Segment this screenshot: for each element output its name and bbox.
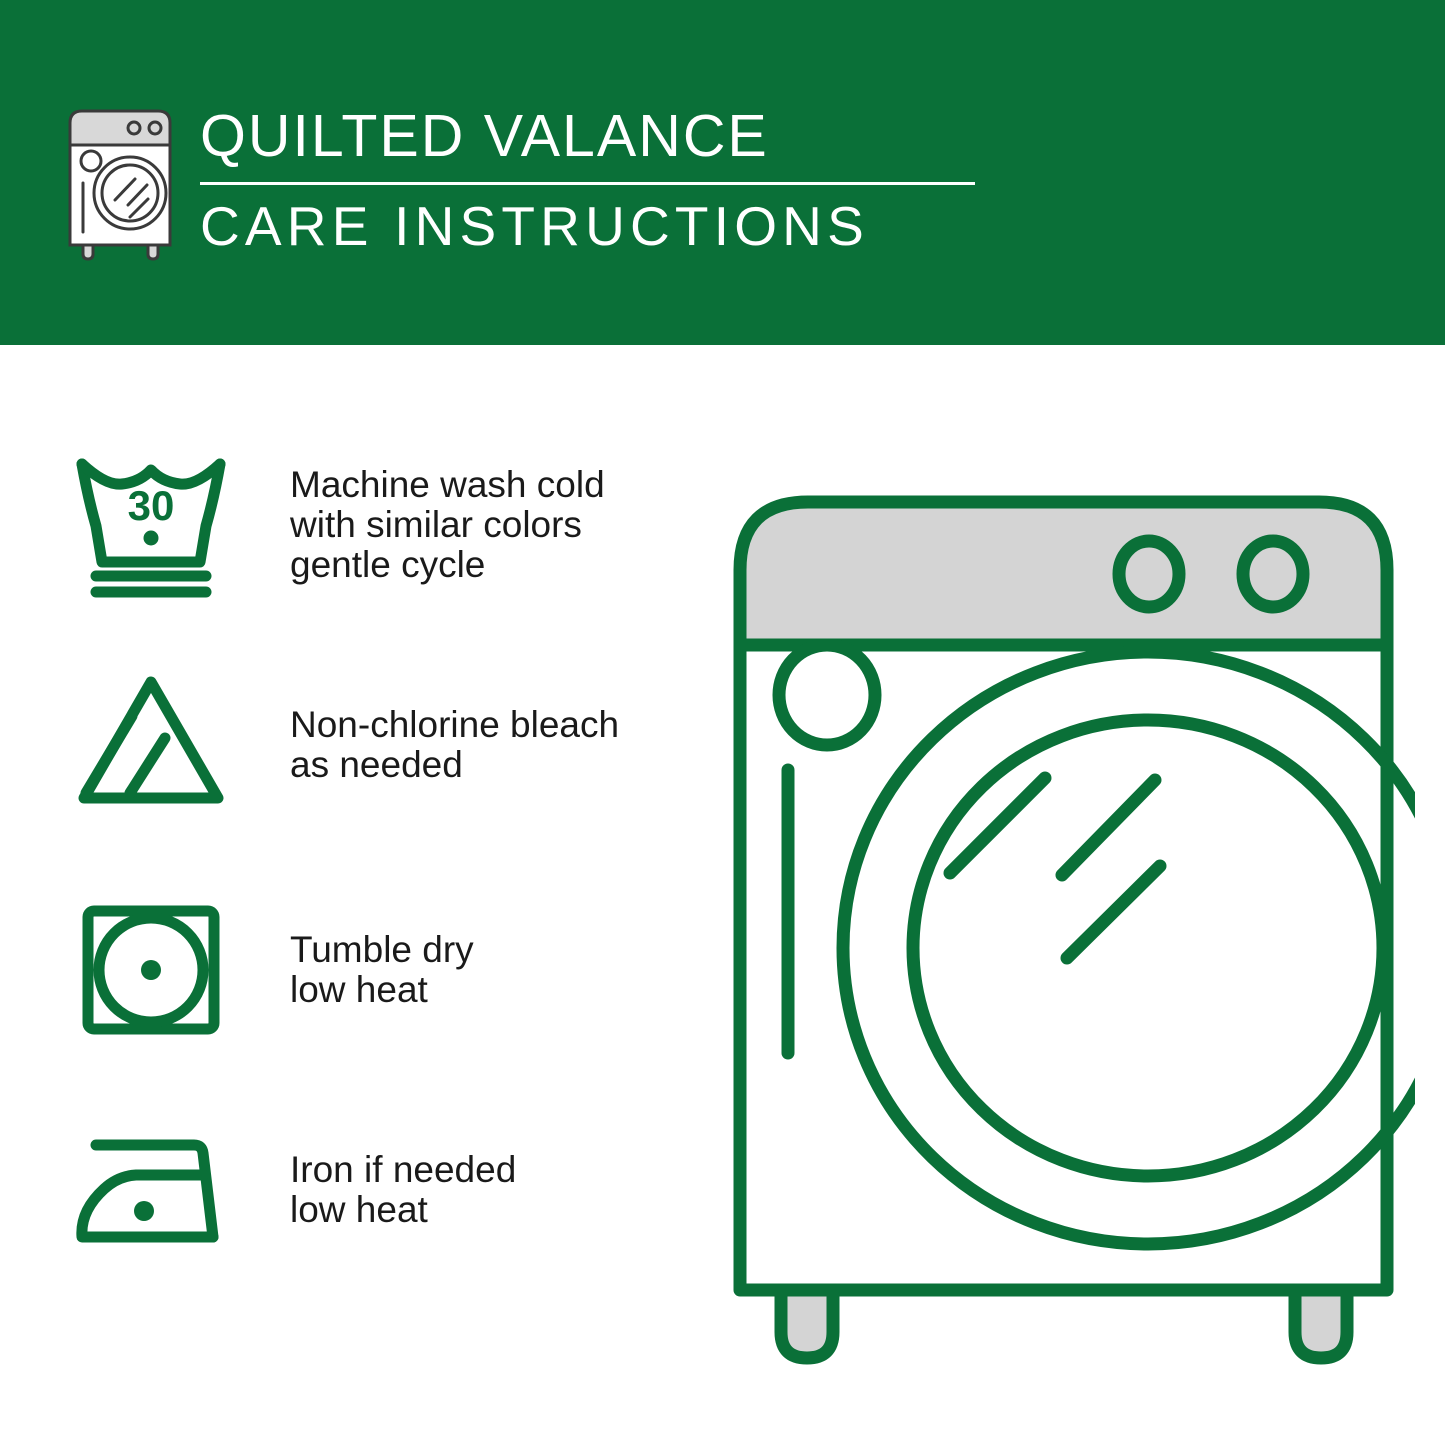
title-divider [200, 182, 975, 185]
header-band: QUILTED VALANCE CARE INSTRUCTIONS [0, 0, 1445, 345]
wash-temperature-value: 30 [128, 482, 175, 529]
non-chlorine-bleach-triangle-icon [66, 660, 236, 830]
list-item: Tumble dry low heat [0, 870, 660, 1070]
list-item: 30 Machine wash cold with similar colors… [0, 425, 660, 625]
tumble-dry-low-heat-icon [66, 885, 236, 1055]
header-title-group: QUILTED VALANCE CARE INSTRUCTIONS [200, 100, 1000, 260]
care-instructions-page: QUILTED VALANCE CARE INSTRUCTIONS [0, 0, 1445, 1445]
page-title: QUILTED VALANCE [200, 100, 1000, 172]
page-subtitle: CARE INSTRUCTIONS [200, 194, 1000, 258]
leg-right [1295, 1290, 1347, 1358]
list-item: Iron if needed low heat [0, 1090, 660, 1290]
care-instruction-text: Iron if needed low heat [290, 1150, 660, 1230]
list-item: Non-chlorine bleach as needed [0, 645, 660, 845]
care-instruction-text: Tumble dry low heat [290, 930, 660, 1010]
care-instruction-list: 30 Machine wash cold with similar colors… [0, 345, 660, 1445]
care-instruction-text: Non-chlorine bleach as needed [290, 705, 660, 785]
front-load-washing-machine-illustration [715, 470, 1415, 1370]
leg-left [781, 1290, 833, 1358]
wash-tub-30-gentle-icon: 30 [66, 440, 236, 610]
iron-low-heat-icon [66, 1105, 236, 1275]
washing-machine-icon [62, 101, 192, 261]
care-instruction-text: Machine wash cold with similar colors ge… [290, 465, 660, 585]
control-panel [740, 502, 1387, 645]
